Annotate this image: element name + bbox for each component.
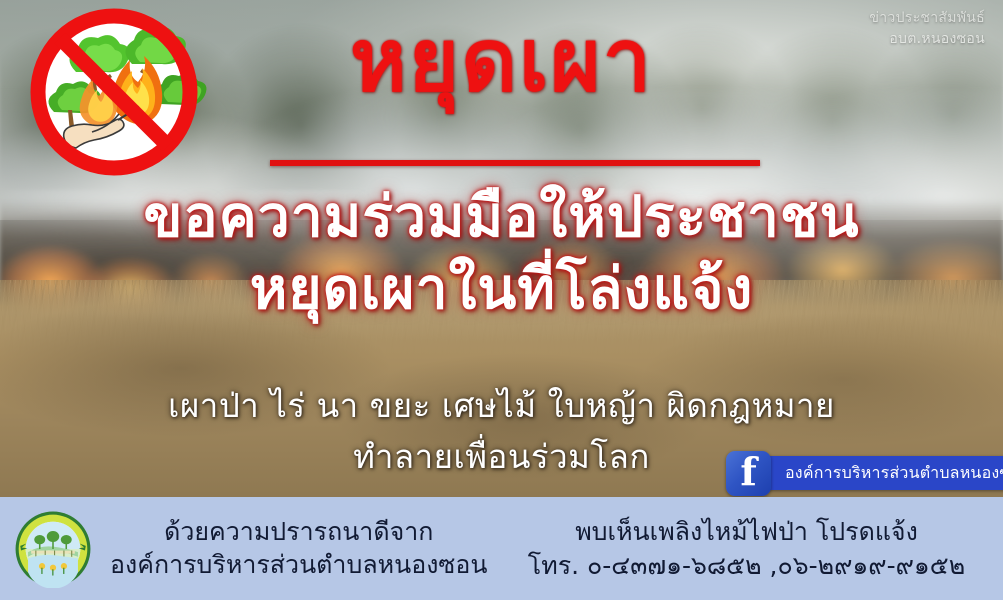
headline: หยุดเผา [0,18,1003,104]
footer-right-text: พบเห็นเพลิงไหม้ไฟป่า โปรดแจ้ง โทร. ๐-๔๓๗… [500,515,1003,583]
slogan: ขอความร่วมมือให้ประชาชน หยุดเผาในที่โล่ง… [0,186,1003,322]
footer-right-line-1: พบเห็นเพลิงไหม้ไฟป่า โปรดแจ้ง [500,515,993,549]
subtext-line-1: เผาป่า ไร่ นา ขยะ เศษไม้ ใบหญ้า ผิดกฎหมา… [0,384,1003,429]
footer-left-line-1: ด้วยความปรารถนาดีจาก [110,516,488,549]
footer-phone-numbers: โทร. ๐-๔๓๗๑-๖๘๕๒ ,๐๖-๒๙๑๙-๙๑๕๒ [500,549,993,583]
headline-divider-rule [270,160,760,166]
footer-left-line-2: องค์การบริหารส่วนตำบลหนองซอน [110,549,488,582]
slogan-line-1: ขอความร่วมมือให้ประชาชน [0,186,1003,250]
facebook-badge[interactable]: องค์การบริหารส่วนตำบลหนองซอน [726,450,1003,496]
nong-son-sao-seal-icon [14,510,92,588]
footer-left-group: ด้วยความปรารถนาดีจาก องค์การบริหารส่วนตำ… [0,510,500,588]
facebook-icon[interactable] [726,451,771,496]
poster-root: ข่าวประชาสัมพันธ์ อบต.หนองซอน หยุดเผา ขอ… [0,0,1003,600]
footer-band: ด้วยความปรารถนาดีจาก องค์การบริหารส่วนตำ… [0,497,1003,600]
facebook-page-name[interactable]: องค์การบริหารส่วนตำบลหนองซอน [765,456,1003,490]
footer-left-text: ด้วยความปรารถนาดีจาก องค์การบริหารส่วนตำ… [110,516,488,581]
slogan-line-2: หยุดเผาในที่โล่งแจ้ง [0,258,1003,322]
